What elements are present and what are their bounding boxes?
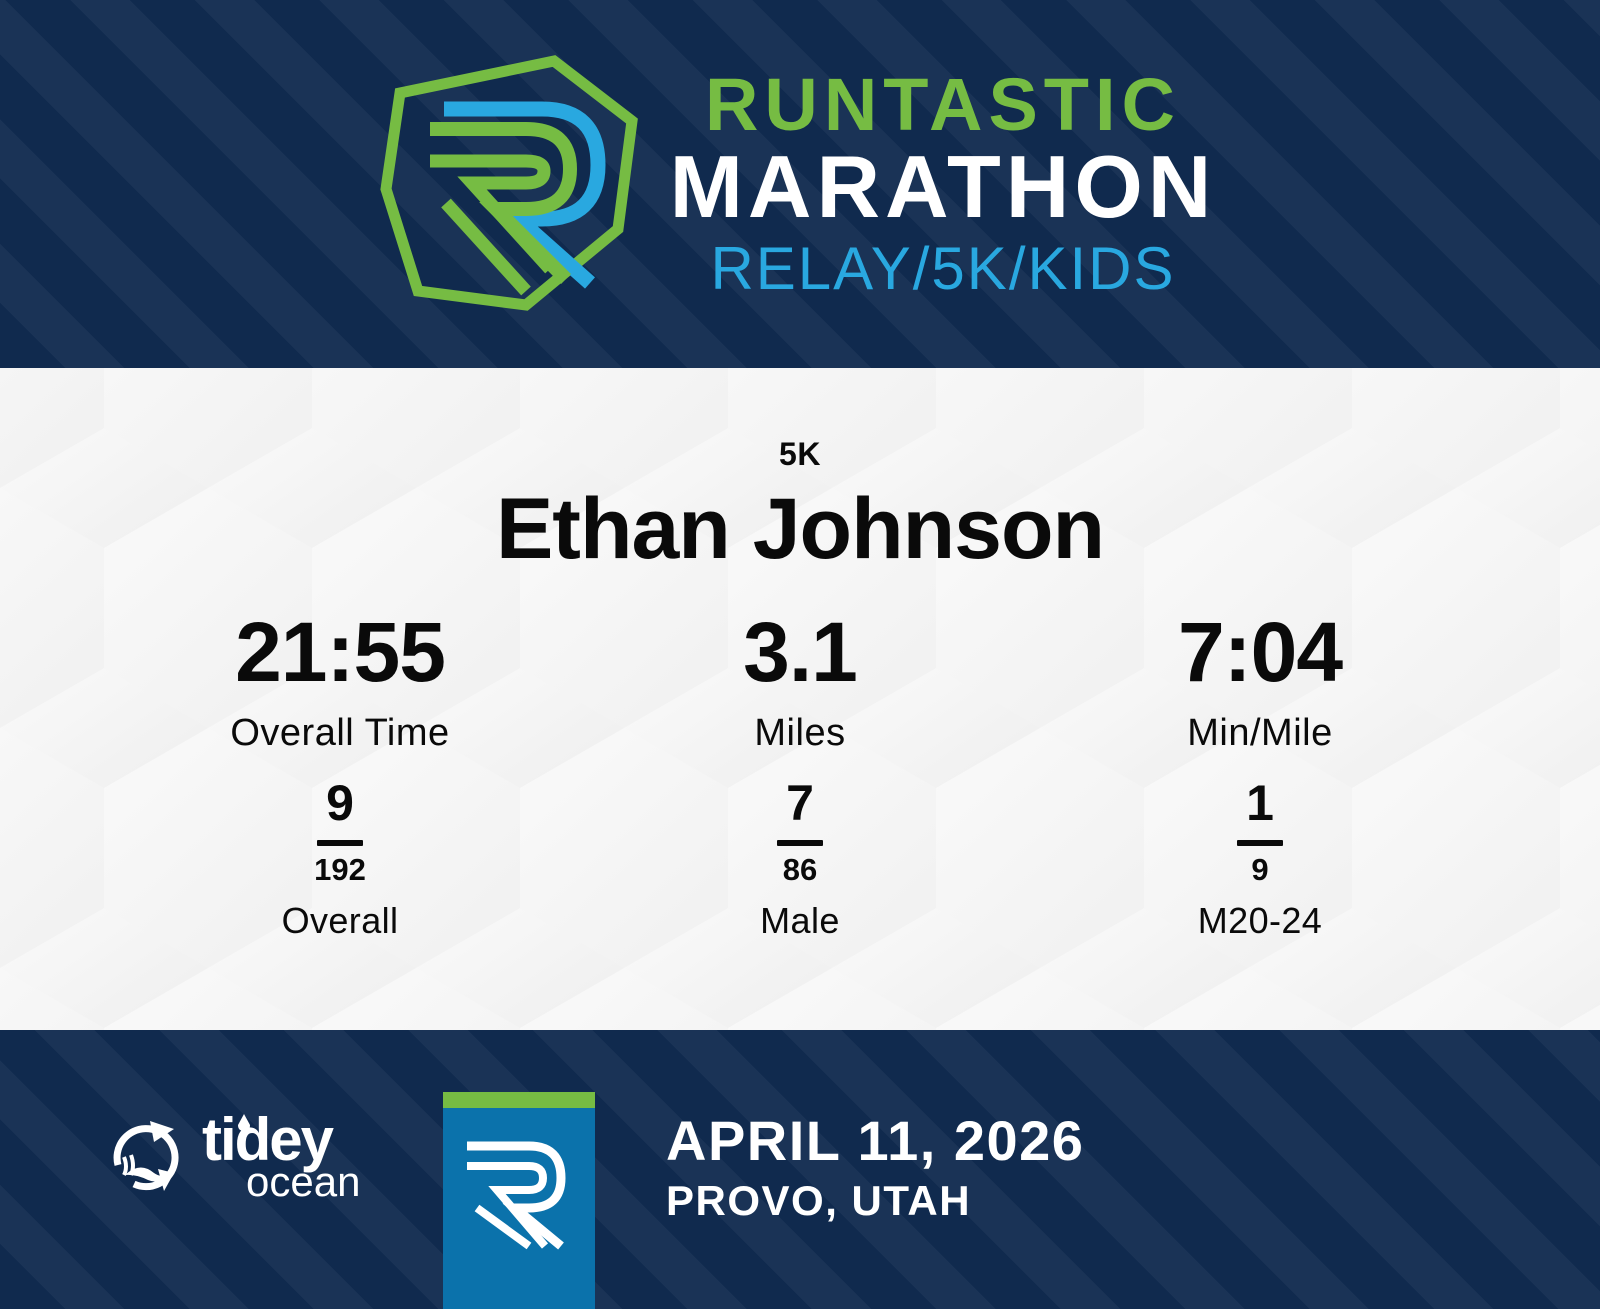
runtastic-hex-r-logo-icon xyxy=(376,53,644,315)
runtastic-r-badge xyxy=(443,1092,595,1309)
footer-banner: tidey ocean APRIL 11, 2026 PROVO, UTAH xyxy=(0,1030,1600,1309)
stat-label: Miles xyxy=(570,714,1030,752)
rank-place: 1 xyxy=(1246,778,1274,828)
rank-male: 7 86 Male xyxy=(570,778,1030,939)
stat-value: 3.1 xyxy=(570,610,1030,694)
rank-label: Male xyxy=(760,903,840,939)
race-type: 5K xyxy=(0,436,1600,473)
rank-overall: 9 192 Overall xyxy=(110,778,570,939)
stat-value: 7:04 xyxy=(1030,610,1490,694)
tidey-ocean-recycle-wave-icon xyxy=(104,1115,186,1197)
event-location: PROVO, UTAH xyxy=(666,1179,1084,1223)
stat-pace: 7:04 Min/Mile xyxy=(1030,610,1490,752)
rank-divider xyxy=(777,840,823,846)
rank-divider xyxy=(1237,840,1283,846)
result-body: 5K Ethan Johnson 21:55 Overall Time 3.1 … xyxy=(0,368,1600,1030)
runtastic-r-badge-icon xyxy=(457,1128,581,1252)
rank-total: 86 xyxy=(783,854,817,885)
brand-lockup: RUNTASTIC MARATHON RELAY/5K/KIDS xyxy=(376,53,1217,315)
event-date: APRIL 11, 2026 xyxy=(666,1112,1084,1171)
sponsor-lockup: tidey ocean xyxy=(104,1108,392,1204)
tidey-ocean-wordmark: tidey ocean xyxy=(202,1108,392,1204)
stat-label: Overall Time xyxy=(110,714,570,752)
rank-total: 9 xyxy=(1251,854,1268,885)
rank-divider xyxy=(317,840,363,846)
rank-label: M20-24 xyxy=(1198,903,1322,939)
rank-total: 192 xyxy=(314,854,366,885)
header-banner: RUNTASTIC MARATHON RELAY/5K/KIDS xyxy=(0,0,1600,368)
stats-row: 21:55 Overall Time 3.1 Miles 7:04 Min/Mi… xyxy=(110,610,1490,752)
stat-value: 21:55 xyxy=(110,610,570,694)
stat-label: Min/Mile xyxy=(1030,714,1490,752)
rank-place: 9 xyxy=(326,778,354,828)
stat-miles: 3.1 Miles xyxy=(570,610,1030,752)
rank-label: Overall xyxy=(282,903,399,939)
brand-runtastic: RUNTASTIC xyxy=(705,69,1181,142)
ranks-row: 9 192 Overall 7 86 Male 1 9 M20-24 xyxy=(110,778,1490,939)
athlete-name: Ethan Johnson xyxy=(0,480,1600,579)
rank-place: 7 xyxy=(786,778,814,828)
svg-text:ocean: ocean xyxy=(246,1158,360,1204)
brand-events: RELAY/5K/KIDS xyxy=(710,239,1175,299)
brand-marathon: MARATHON xyxy=(670,143,1217,231)
event-info: APRIL 11, 2026 PROVO, UTAH xyxy=(666,1112,1084,1223)
stat-overall-time: 21:55 Overall Time xyxy=(110,610,570,752)
rank-age-group: 1 9 M20-24 xyxy=(1030,778,1490,939)
race-result-card: RUNTASTIC MARATHON RELAY/5K/KIDS xyxy=(0,0,1600,1309)
badge-accent-bar xyxy=(443,1092,595,1108)
